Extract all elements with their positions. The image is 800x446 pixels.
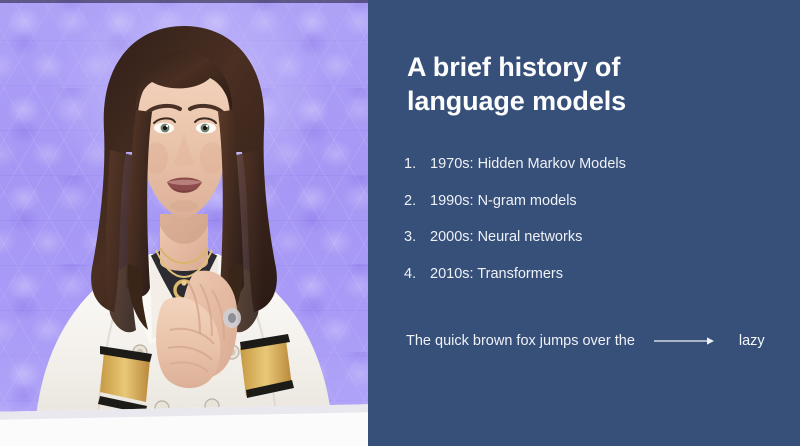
- list-item-number: 2.: [404, 194, 430, 209]
- list-item: 3. 2000s: Neural networks: [404, 230, 764, 245]
- prediction-example: The quick brown fox jumps over the lazy: [406, 333, 765, 349]
- presenter-figure: [0, 0, 368, 446]
- list-item-number: 3.: [404, 230, 430, 245]
- screenshot-root: A brief history of language models 1. 19…: [0, 0, 800, 446]
- slide-title: A brief history of language models: [407, 50, 737, 118]
- video-pane: [0, 0, 368, 446]
- list-item-text: 1990s: N-gram models: [430, 194, 577, 209]
- list-item: 4. 2010s: Transformers: [404, 267, 764, 282]
- video-top-edge: [0, 0, 368, 3]
- slide-bullet-list: 1. 1970s: Hidden Markov Models 2. 1990s:…: [404, 157, 764, 303]
- list-item: 1. 1970s: Hidden Markov Models: [404, 157, 764, 172]
- prediction-prompt: The quick brown fox jumps over the: [406, 333, 635, 349]
- list-item-number: 4.: [404, 267, 430, 282]
- right-arrow-icon: [653, 335, 717, 347]
- prediction-next-word: lazy: [733, 333, 765, 349]
- list-item-text: 2000s: Neural networks: [430, 230, 582, 245]
- list-item-number: 1.: [404, 157, 430, 172]
- list-item: 2. 1990s: N-gram models: [404, 194, 764, 209]
- slide-pane: A brief history of language models 1. 19…: [368, 0, 800, 446]
- list-item-text: 2010s: Transformers: [430, 267, 563, 282]
- list-item-text: 1970s: Hidden Markov Models: [430, 157, 626, 172]
